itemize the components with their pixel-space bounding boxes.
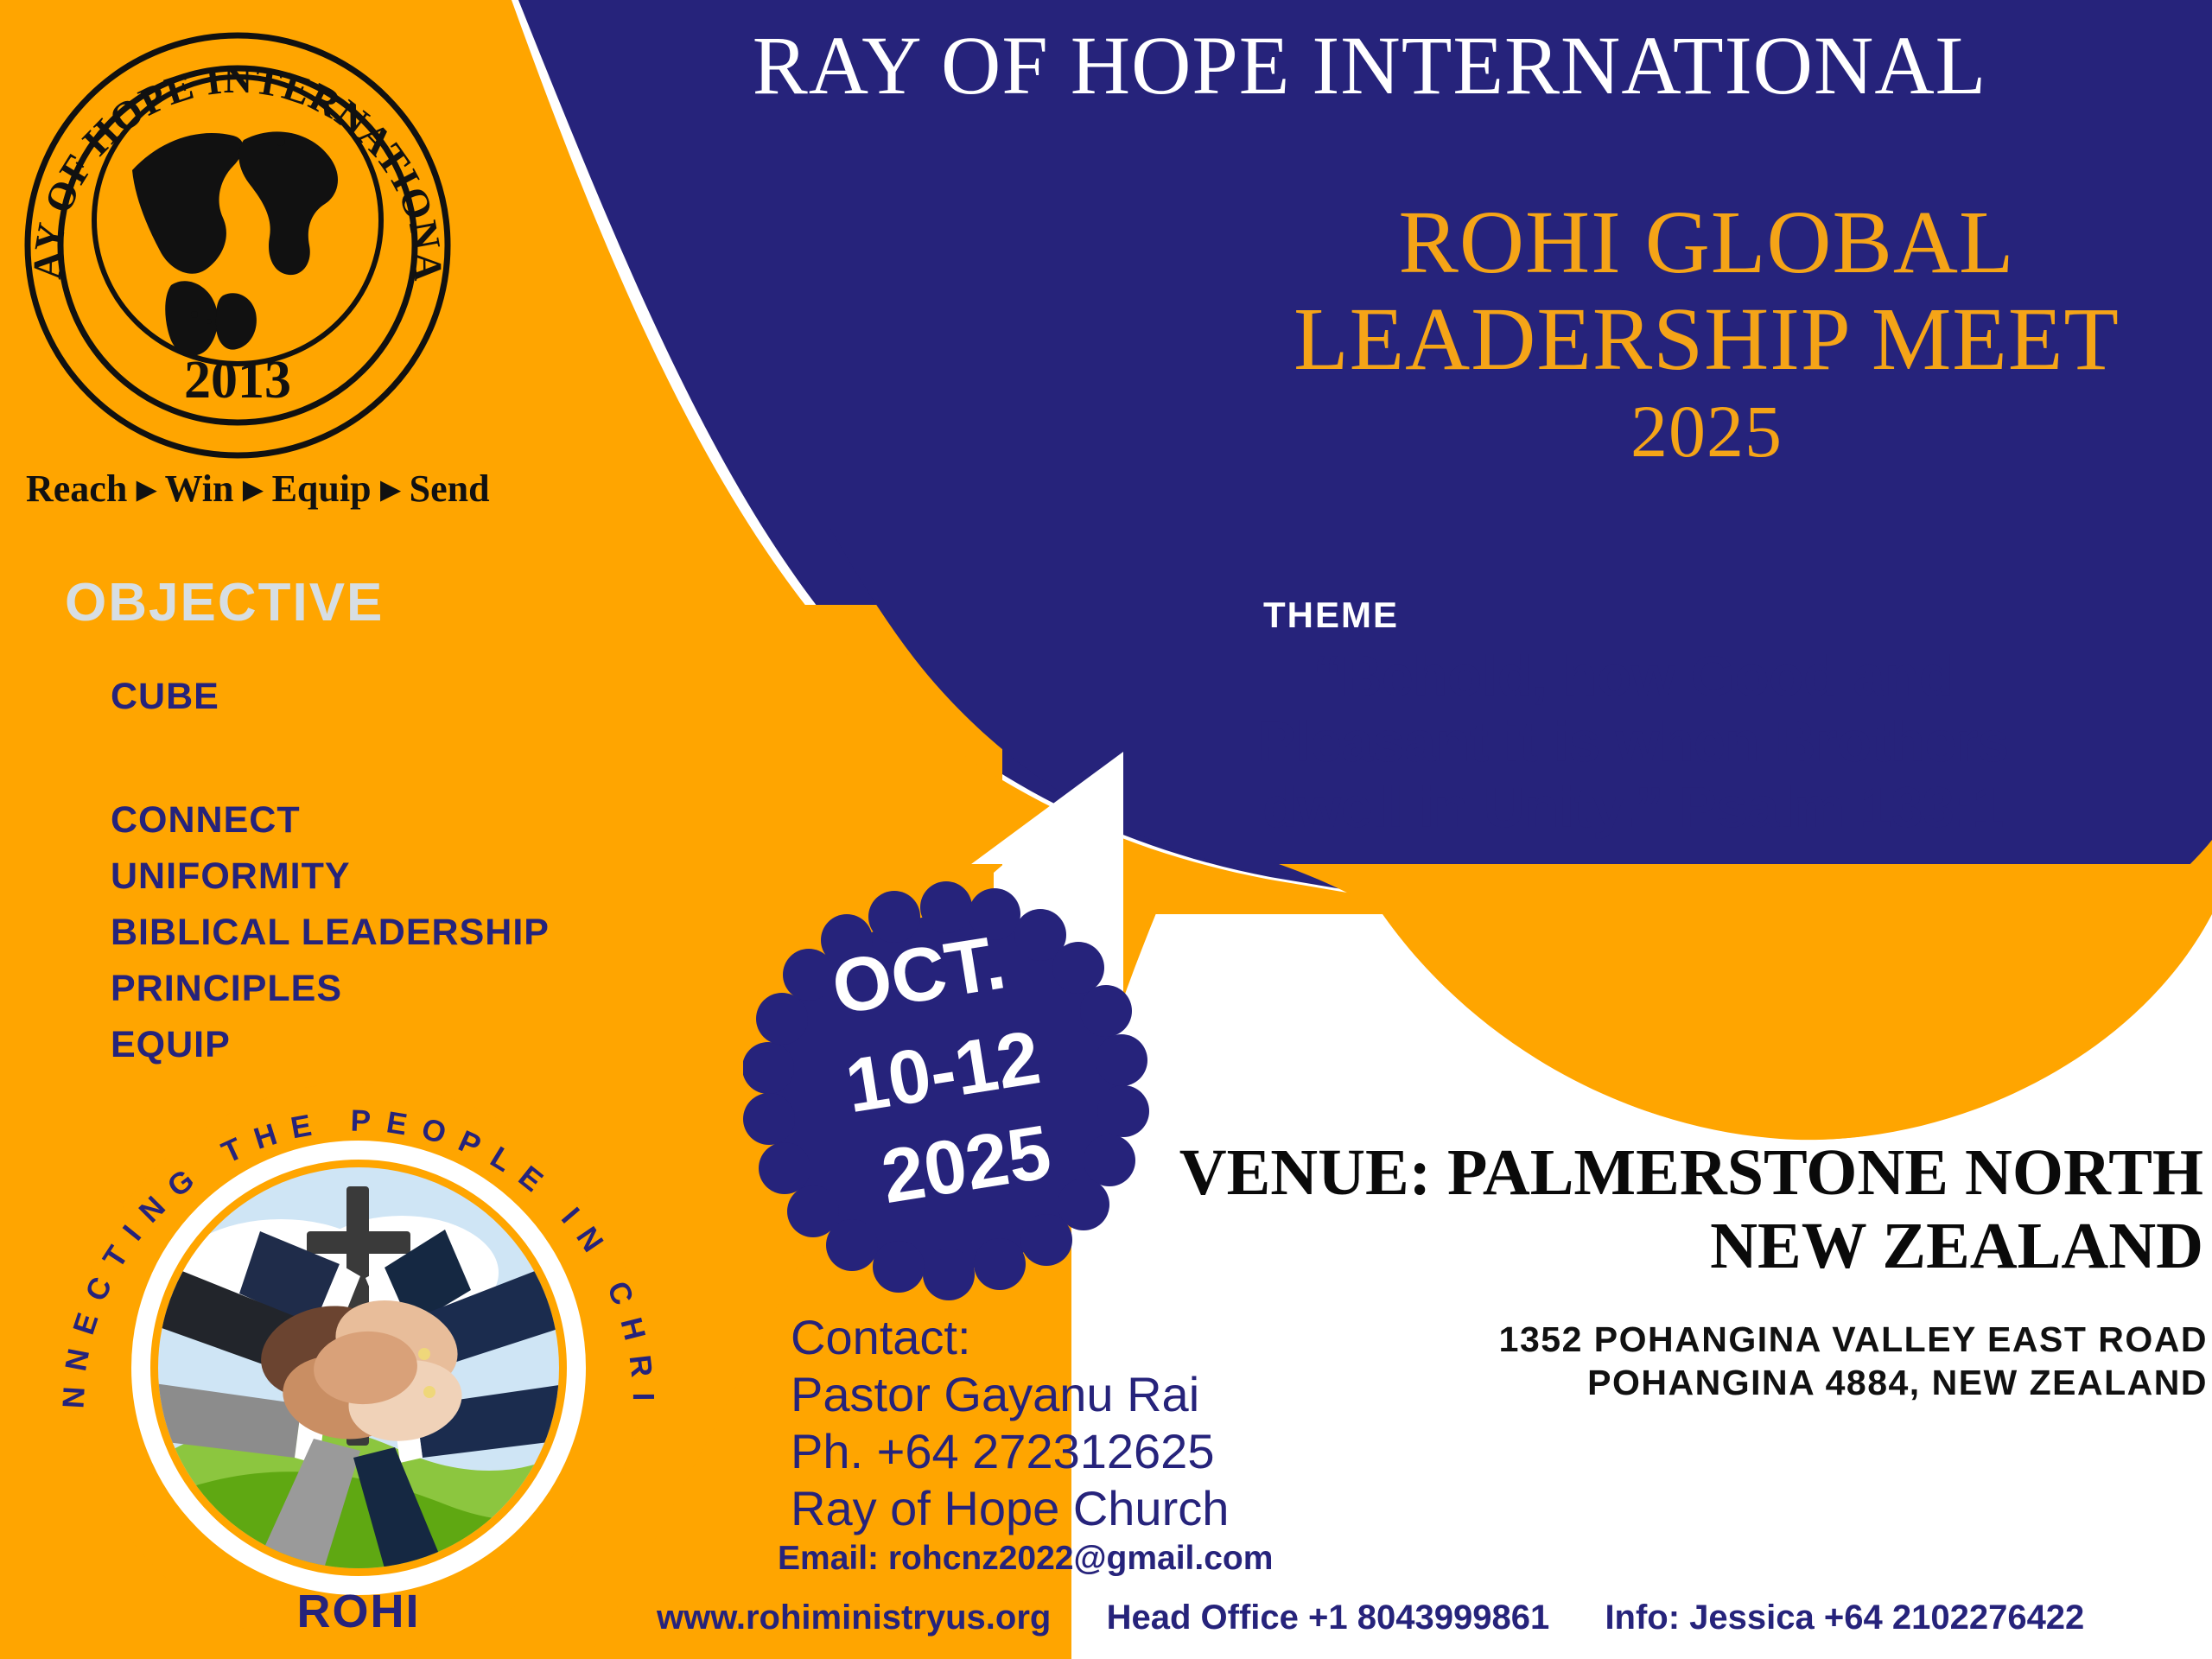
event-title-line2: LEADERSHIP MEET — [1294, 289, 2120, 389]
seal-year: 2013 — [184, 351, 291, 410]
contact-label: Contact: — [791, 1309, 1447, 1366]
objective-acronym: CUBE — [111, 678, 664, 715]
contact-block: Contact: Pastor Gayanu Rai Ph. +64 27231… — [791, 1309, 1447, 1537]
venue-block: VENUE: PALMERSTONE NORTH NEW ZEALAND — [1097, 1136, 2203, 1283]
objective-list: CUBE CONNECT UNIFORMITY BIBLICAL LEADERS… — [111, 678, 664, 1083]
theme-quote: “Behold, how Good and Pleasant it is whe… — [1063, 644, 2203, 841]
objective-item-biblical-leadership: BIBLICAL LEADERSHIP — [111, 914, 664, 951]
footer-head-office[interactable]: Head Office +1 8043999861 — [1107, 1599, 1550, 1637]
objective-item-equip: EQUIP — [111, 1027, 664, 1064]
venue-line2: NEW ZEALAND — [1710, 1210, 2203, 1282]
footer-bar: www.rohiministryus.org Head Office +1 80… — [657, 1599, 2212, 1637]
objective-item-uniformity: UNIFORMITY — [111, 858, 664, 895]
contact-phone[interactable]: Ph. +64 272312625 — [791, 1423, 1447, 1480]
contact-church: Ray of Hope Church — [791, 1480, 1447, 1537]
contact-email[interactable]: Email: rohcnz2022@gmail.com — [778, 1540, 1486, 1578]
event-title-block: ROHI GLOBAL LEADERSHIP MEET 2025 — [1210, 194, 2203, 474]
globe-icon — [132, 131, 338, 355]
date-badge: OCT. 10-12 2025 — [743, 881, 1149, 1305]
theme-quote-line3: dwell in Unity.” Psalm 133:1 — [1262, 775, 2004, 839]
footer-website[interactable]: www.rohiministryus.org — [657, 1599, 1051, 1637]
theme-quote-line2: Pleasant it is when Brothers — [1257, 709, 2009, 773]
ray-of-hope-seal-logo: RAY OF HOPE INTERNATIONAL 2013 — [17, 10, 458, 460]
event-title-line1: ROHI GLOBAL — [1399, 193, 2015, 292]
poster-canvas: RAY OF HOPE INTERNATIONAL 2013 Reach ▸ W… — [0, 0, 2212, 1659]
footer-info[interactable]: Info: Jessica +64 2102276422 — [1605, 1599, 2084, 1637]
circle-logo-abbrev: ROHI — [297, 1586, 421, 1637]
ring-icon-2 — [423, 1386, 435, 1398]
contact-name: Pastor Gayanu Rai — [791, 1366, 1447, 1423]
theme-label: THEME — [1263, 594, 1399, 636]
venue-line1: VENUE: PALMERSTONE NORTH — [1179, 1136, 2203, 1209]
rohi-circle-logo: CONNECTING THE PEOPLE IN CHRIST ROHI — [39, 1067, 678, 1659]
ring-icon — [418, 1348, 430, 1360]
objective-item-principles: PRINCIPLES — [111, 970, 664, 1007]
objective-heading: OBJECTIVE — [65, 572, 384, 633]
seal-tagline: Reach ▸ Win ▸ Equip ▸ Send — [26, 467, 475, 511]
event-year: 2025 — [1210, 389, 2203, 474]
page-title: RAY OF HOPE INTERNATIONAL — [536, 24, 2203, 107]
objective-item-connect: CONNECT — [111, 802, 664, 839]
theme-quote-line1: “Behold, how Good and — [1313, 644, 1953, 708]
address-line2: POHANGINA 4884, NEW ZEALAND — [1587, 1363, 2208, 1402]
address-line1: 1352 POHANGINA VALLEY EAST ROAD — [1499, 1319, 2208, 1359]
